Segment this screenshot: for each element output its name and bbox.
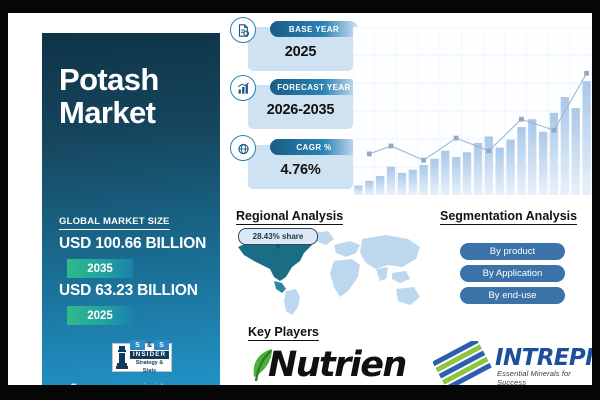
regional-analysis-heading: Regional Analysis bbox=[236, 209, 343, 225]
logo-insider-text: INSIDER bbox=[130, 351, 169, 359]
chart-bar bbox=[517, 127, 525, 195]
segment-by-product[interactable]: By product bbox=[460, 243, 565, 260]
region-asia bbox=[360, 235, 420, 269]
globe-growth-icon bbox=[230, 135, 256, 161]
chart-bar bbox=[376, 176, 384, 195]
source-line: Source:www.snsinsider.com bbox=[42, 382, 220, 385]
chart-bar bbox=[582, 81, 590, 195]
stat-card-forecast-year: FORECAST YEAR 2026-2035 bbox=[248, 85, 353, 129]
segmentation-analysis-heading: Segmentation Analysis bbox=[440, 209, 577, 225]
intrepid-wordmark: INTREPID bbox=[495, 345, 592, 371]
stat-card-caption: BASE YEAR bbox=[270, 21, 358, 37]
region-europe bbox=[334, 241, 360, 257]
chart-data-marker bbox=[486, 148, 491, 153]
sns-insider-logo: S & S INSIDER Strategy & Stats bbox=[112, 343, 172, 372]
world-map: 28.43% share bbox=[230, 225, 426, 317]
stat-card-value: 4.76% bbox=[248, 162, 353, 178]
chart-data-marker bbox=[421, 158, 426, 163]
intrepid-stripes-icon bbox=[433, 341, 495, 385]
key-players-heading: Key Players bbox=[248, 325, 319, 341]
stat-card-value: 2025 bbox=[248, 44, 353, 60]
left-summary-panel: Potash Market GLOBAL MARKET SIZE USD 100… bbox=[42, 33, 220, 385]
chart-bar bbox=[463, 152, 471, 195]
stat-card-caption: CAGR % bbox=[270, 139, 358, 155]
chart-bar bbox=[452, 157, 460, 195]
chart-bar bbox=[387, 167, 395, 195]
region-central-america bbox=[274, 281, 286, 293]
chart-bar bbox=[398, 173, 406, 195]
market-size-value-2035: USD 100.66 BILLION bbox=[59, 235, 206, 253]
page-title: Potash Market bbox=[59, 63, 159, 130]
lighthouse-icon bbox=[115, 345, 129, 370]
segment-by-end-use[interactable]: By end-use bbox=[460, 287, 565, 304]
logo-letter-s-right: S bbox=[154, 340, 169, 350]
chart-data-marker bbox=[584, 71, 589, 76]
nutrien-wordmark: Nutrien bbox=[268, 345, 406, 385]
region-africa bbox=[330, 259, 360, 297]
region-south-america bbox=[284, 289, 300, 315]
chart-bar bbox=[430, 159, 438, 195]
intrepid-tagline: Essential Minerals for Success bbox=[497, 369, 592, 385]
chart-bar bbox=[506, 140, 514, 195]
market-size-year-2035: 2035 bbox=[67, 259, 133, 278]
chart-bar bbox=[528, 119, 536, 195]
sns-insider-wordmark: S & S INSIDER Strategy & Stats bbox=[130, 340, 169, 375]
document-icon bbox=[230, 17, 256, 43]
regional-share-callout: 28.43% share bbox=[238, 228, 318, 245]
chart-bar bbox=[441, 151, 449, 195]
chart-data-marker bbox=[552, 128, 557, 133]
intrepid-logo: INTREPID Essential Minerals for Success bbox=[433, 339, 592, 385]
region-australia bbox=[396, 287, 420, 305]
market-size-value-2025: USD 63.23 BILLION bbox=[59, 282, 198, 300]
source-label: Source: bbox=[71, 382, 106, 385]
chart-bar bbox=[496, 148, 504, 195]
growth-bar-chart bbox=[353, 27, 592, 195]
infographic-frame: Potash Market GLOBAL MARKET SIZE USD 100… bbox=[8, 13, 592, 385]
stat-card-cagr: CAGR % 4.76% bbox=[248, 145, 353, 189]
chart-data-marker bbox=[389, 144, 394, 149]
logo-letter-s-left: S bbox=[130, 340, 145, 350]
chart-canvas bbox=[353, 27, 592, 195]
nutrien-logo: Nutrien bbox=[248, 345, 413, 385]
chart-bar bbox=[365, 181, 373, 195]
region-southeast-asia bbox=[392, 271, 410, 283]
chart-data-marker bbox=[367, 152, 372, 157]
chart-bar bbox=[409, 170, 417, 195]
chart-data-marker bbox=[454, 136, 459, 141]
title-line-2: Market bbox=[59, 95, 155, 130]
bar-chart-icon bbox=[230, 75, 256, 101]
chart-bar bbox=[485, 137, 493, 196]
title-line-1: Potash bbox=[59, 62, 159, 97]
chart-bar bbox=[354, 186, 362, 196]
chart-bar bbox=[572, 108, 580, 195]
screenshot-root: Potash Market GLOBAL MARKET SIZE USD 100… bbox=[0, 0, 600, 400]
stat-card-value: 2026-2035 bbox=[248, 102, 353, 118]
chart-bar bbox=[420, 165, 428, 195]
stat-card-base-year: BASE YEAR 2025 bbox=[248, 27, 353, 71]
chart-bar bbox=[474, 143, 482, 195]
region-india bbox=[376, 267, 388, 281]
segment-by-application[interactable]: By Application bbox=[460, 265, 565, 282]
chart-data-marker bbox=[519, 117, 524, 122]
chart-bar bbox=[539, 132, 547, 195]
logo-tagline: Strategy & Stats bbox=[130, 359, 169, 375]
stat-card-caption: FORECAST YEAR bbox=[270, 79, 358, 95]
logo-ampersand: & bbox=[146, 340, 153, 350]
global-market-size-label: GLOBAL MARKET SIZE bbox=[59, 216, 170, 230]
source-url: www.snsinsider.com bbox=[106, 382, 192, 385]
market-size-year-2025: 2025 bbox=[67, 306, 133, 325]
